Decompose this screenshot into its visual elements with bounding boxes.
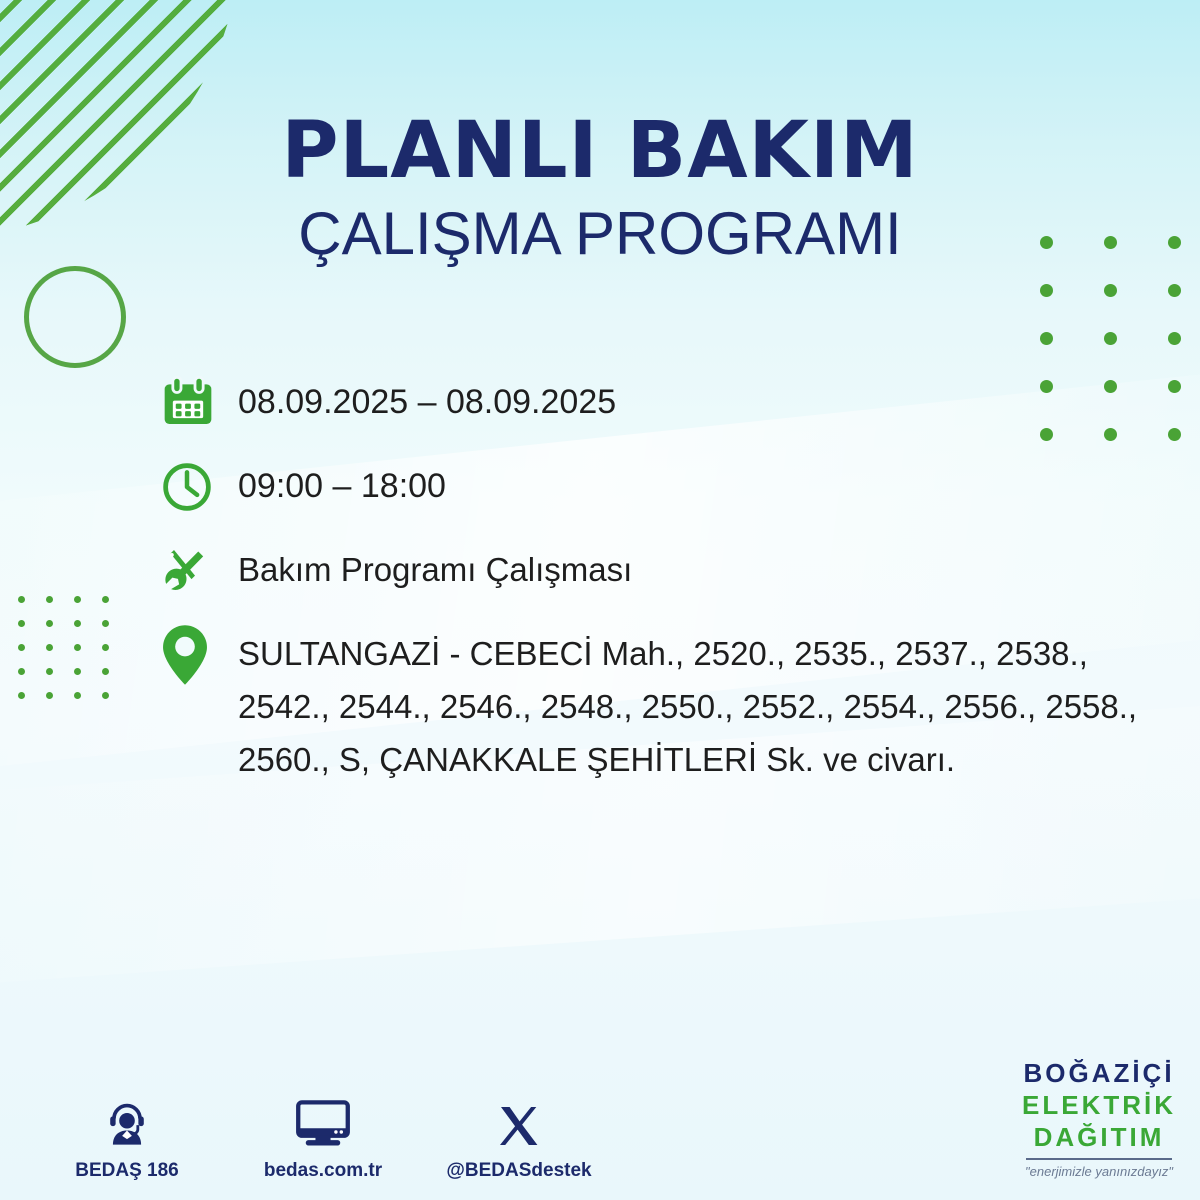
footer: BEDAŞ 186 bedas.com.tr	[0, 1030, 1200, 1200]
contact-social-label: @BEDASdestek	[446, 1160, 591, 1182]
brand-divider	[1026, 1158, 1172, 1160]
contact-list: BEDAŞ 186 bedas.com.tr	[52, 1092, 594, 1182]
affected-area-value: SULTANGAZİ - CEBECİ Mah., 2520., 2535., …	[238, 624, 1173, 786]
contact-phone-label: BEDAŞ 186	[75, 1160, 179, 1182]
page-subtitle: ÇALIŞMA PROGRAMI	[0, 204, 1200, 264]
brand-tagline: "enerjimizle yanınızdayız"	[1022, 1165, 1176, 1178]
contact-website[interactable]: bedas.com.tr	[248, 1092, 398, 1182]
contact-social[interactable]: @BEDASdestek	[444, 1092, 594, 1182]
info-row-date: 08.09.2025 – 08.09.2025	[160, 372, 1180, 434]
poster-canvas: PLANLI BAKIM ÇALIŞMA PROGRAMI	[0, 0, 1200, 1200]
bedas-logo: BOĞAZİÇİ ELEKTRİK DAĞITIM "enerjimizle y…	[1022, 1060, 1176, 1178]
brand-line-bogazici: BOĞAZİÇİ	[1022, 1060, 1176, 1086]
monitor-icon	[295, 1092, 351, 1150]
headset-agent-icon	[101, 1092, 153, 1150]
calendar-icon	[160, 372, 238, 434]
page-title: PLANLI BAKIM	[0, 112, 1200, 190]
time-range-value: 09:00 – 18:00	[238, 456, 446, 513]
date-range-value: 08.09.2025 – 08.09.2025	[238, 372, 616, 429]
brand-line-elektrik: ELEKTRİK	[1022, 1092, 1176, 1118]
contact-website-label: bedas.com.tr	[264, 1160, 382, 1182]
info-row-location: SULTANGAZİ - CEBECİ Mah., 2520., 2535., …	[160, 624, 1180, 786]
clock-icon	[160, 456, 238, 518]
brand-line-dagitim: DAĞITIM	[1022, 1124, 1176, 1150]
location-pin-icon	[160, 624, 238, 686]
work-type-value: Bakım Programı Çalışması	[238, 540, 632, 595]
dot-grid-left-decoration	[18, 596, 130, 716]
page-title-block: PLANLI BAKIM ÇALIŞMA PROGRAMI	[0, 112, 1200, 264]
tools-icon	[160, 540, 238, 602]
contact-phone[interactable]: BEDAŞ 186	[52, 1092, 202, 1182]
info-list: 08.09.2025 – 08.09.2025 09:00 – 18:00 Ba…	[160, 372, 1180, 808]
circle-outline-decoration	[24, 266, 126, 368]
info-row-work-type: Bakım Programı Çalışması	[160, 540, 1180, 602]
x-twitter-icon	[495, 1092, 543, 1150]
info-row-time: 09:00 – 18:00	[160, 456, 1180, 518]
